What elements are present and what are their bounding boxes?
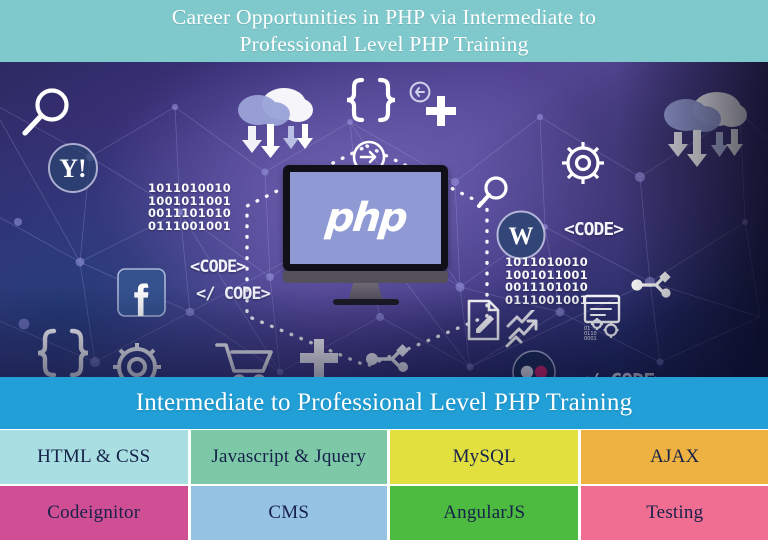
poster: Career Opportunities in PHP via Intermed… [0,0,768,540]
usb-right-icon [630,267,674,303]
yahoo-icon: Y! [47,142,99,194]
settings-document-icon: 01 0110 0001 [583,294,633,342]
svg-text:Y!: Y! [59,154,86,183]
curly-braces-icon [30,327,96,377]
plus-bottom-icon [298,337,340,377]
page-title-line-1: Career Opportunities in PHP via Intermed… [172,5,596,29]
monitor-neck [349,283,383,299]
search-icon [18,84,74,140]
topic-cell-angularjs[interactable]: AngularJS [390,486,579,540]
code-open-right: <CODE> [564,219,623,240]
code-close-left: </ CODE> [196,284,270,304]
facebook-icon [117,268,166,317]
cloud-download-right-icon [662,84,748,170]
growth-arrow-icon [505,310,547,350]
page-title: Career Opportunities in PHP via Intermed… [64,4,704,58]
topic-cell-mysql[interactable]: MySQL [390,430,579,484]
topic-row-2: Codeignitor CMS AngularJS Testing [0,486,768,540]
subtitle-banner: Intermediate to Professional Level PHP T… [0,377,768,429]
topic-cell-cms[interactable]: CMS [191,486,387,540]
subtitle-text: Intermediate to Professional Level PHP T… [136,389,633,417]
flickr-icon [512,350,556,377]
header-banner: Career Opportunities in PHP via Intermed… [0,0,768,62]
search-right-icon [475,174,511,210]
topic-cell-testing[interactable]: Testing [581,486,768,540]
shopping-cart-icon [215,339,275,377]
code-open-left: <CODE> [190,257,245,277]
curly-braces-top-icon [340,77,402,125]
page-title-line-2: Professional Level PHP Training [239,32,528,56]
document-edit-icon [466,299,500,341]
usb-icon [364,340,410,377]
wikipedia-icon: W [496,210,546,260]
monitor-screen: php [290,172,441,264]
monitor-frame: php [283,165,448,271]
plus-icon [424,94,458,128]
hero-image: Y! 1011010010 1001011001 0011101010 0111… [0,62,768,377]
topic-cell-codeignitor[interactable]: Codeignitor [0,486,188,540]
gear-icon [110,340,164,377]
monitor-foot [333,299,399,305]
monitor-base [283,271,448,283]
topic-row-1: HTML & CSS Javascript & Jquery MySQL AJA… [0,430,768,484]
binary-text-right: 1011010010 1001011001 0011101010 0111001… [505,256,588,306]
topic-grid: HTML & CSS Javascript & Jquery MySQL AJA… [0,429,768,540]
cloud-download-icon [236,82,314,158]
binary-text-left: 1011010010 1001011001 0011101010 0111001… [148,182,231,232]
topic-cell-html-css[interactable]: HTML & CSS [0,430,188,484]
php-logo-text: php [323,195,408,241]
svg-text:0001: 0001 [584,336,597,342]
code-close-right-upper: </ CODE> [577,369,665,377]
topic-cell-ajax[interactable]: AJAX [581,430,768,484]
topic-cell-javascript-jquery[interactable]: Javascript & Jquery [191,430,387,484]
gear-right-icon [560,140,606,186]
php-monitor: php [283,165,448,295]
svg-text:W: W [509,223,534,250]
